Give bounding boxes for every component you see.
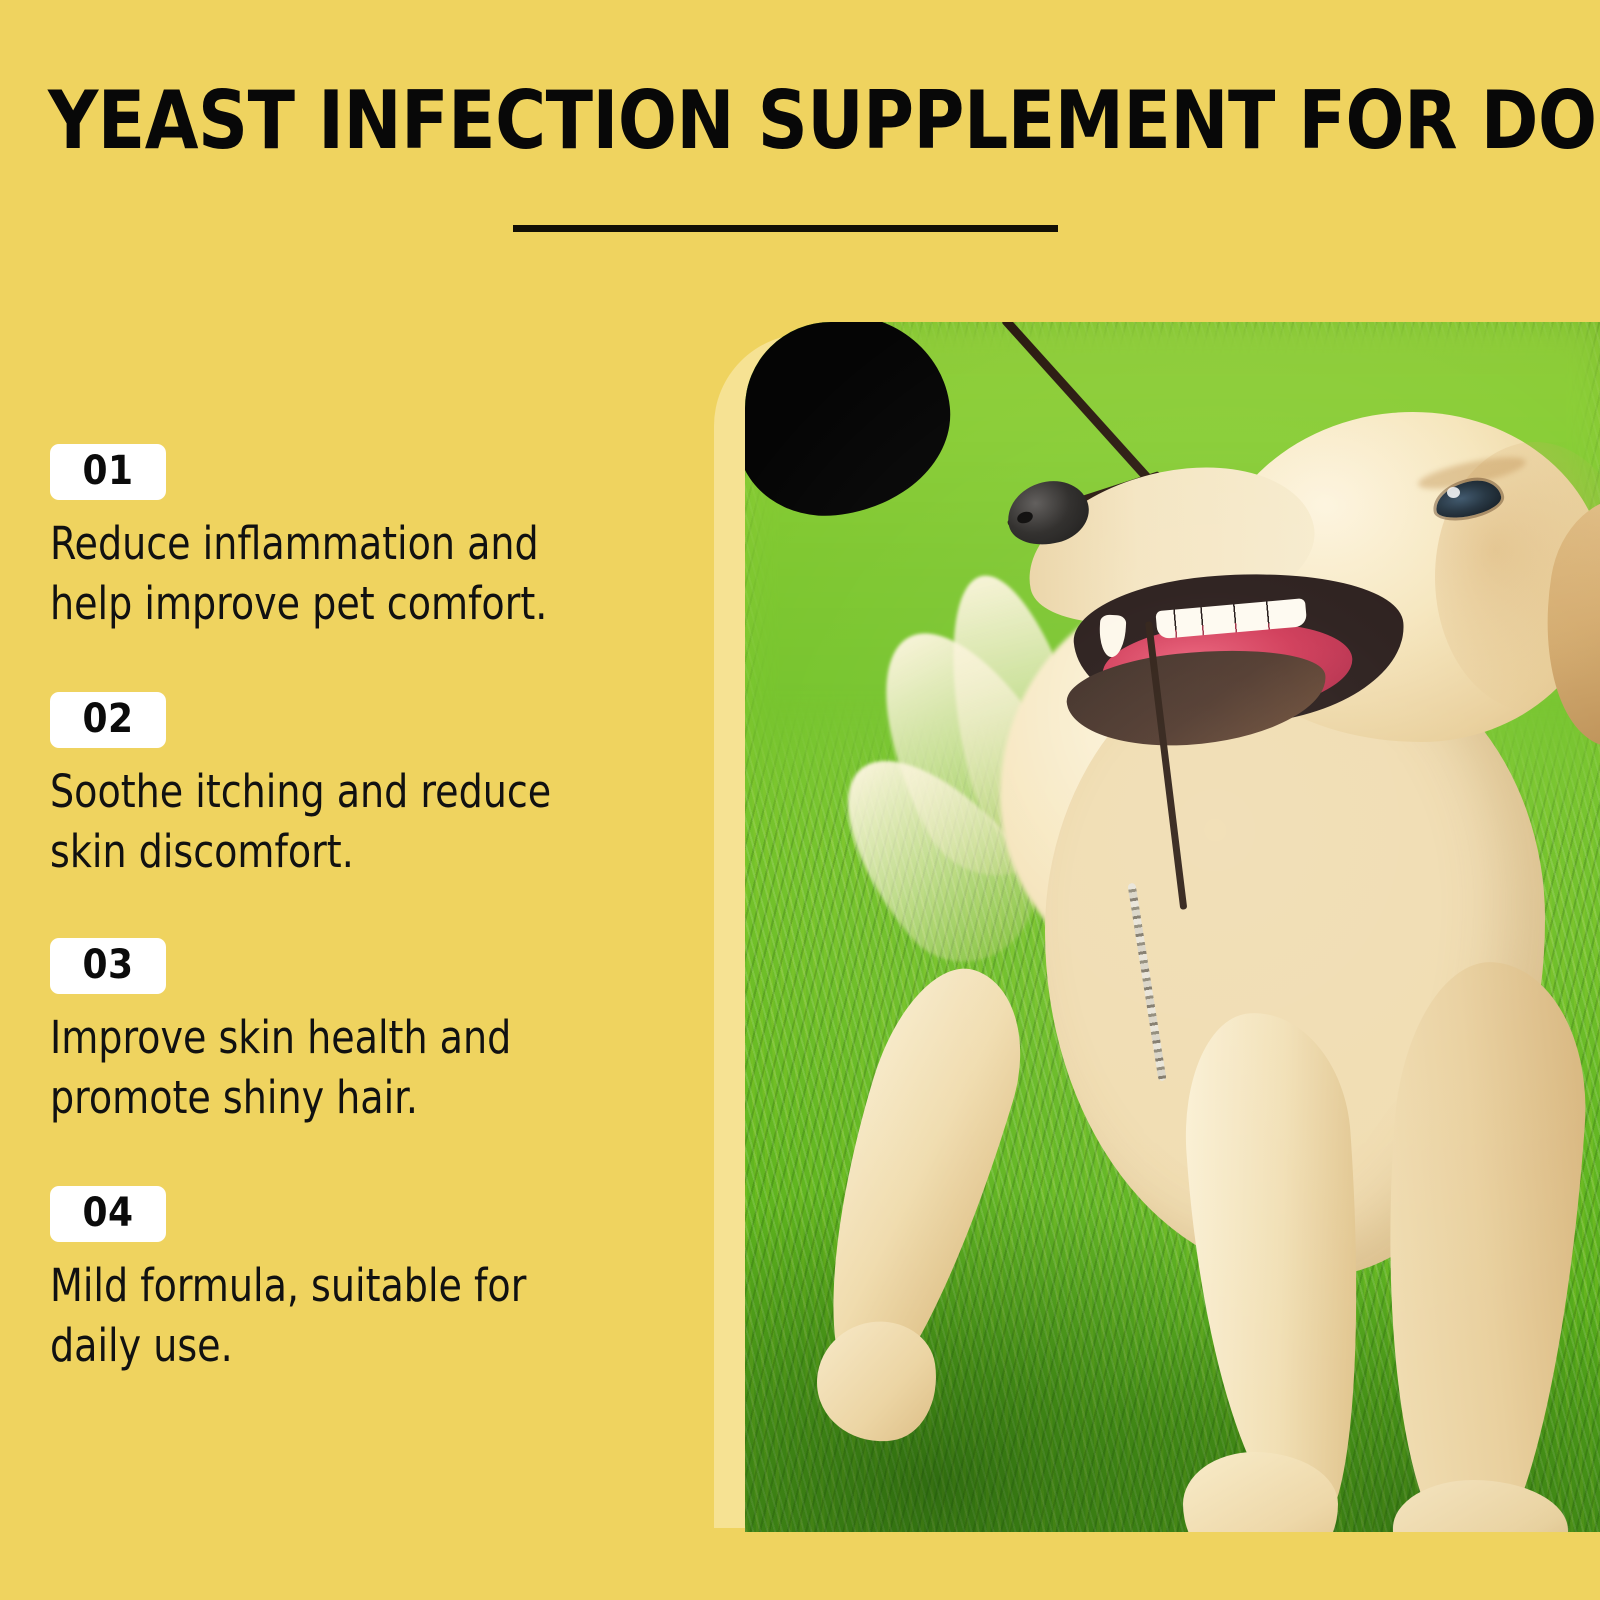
feature-number-badge: 02: [50, 692, 166, 748]
feature-description: Reduce inflammation and help improve pet…: [50, 514, 623, 634]
feature-item-02: 02 Soothe itching and reduce skin discom…: [50, 692, 670, 882]
product-feature-poster: YEAST INFECTION SUPPLEMENT FOR DOGS 01 R…: [0, 0, 1600, 1600]
dog-eye-highlight: [1447, 487, 1460, 498]
black-silhouette-shape: [745, 322, 960, 525]
feature-description: Soothe itching and reduce skin discomfor…: [50, 762, 623, 882]
feature-item-01: 01 Reduce inflammation and help improve …: [50, 444, 670, 634]
feature-item-04: 04 Mild formula, suitable for daily use.: [50, 1186, 670, 1376]
feature-description: Mild formula, suitable for daily use.: [50, 1256, 623, 1376]
feature-list: 01 Reduce inflammation and help improve …: [0, 0, 700, 1600]
feature-number-badge: 03: [50, 938, 166, 994]
dog-photo: [745, 322, 1600, 1532]
feature-item-03: 03 Improve skin health and promote shiny…: [50, 938, 670, 1128]
dog-front-left-paw: [809, 1314, 945, 1450]
feature-number-badge: 01: [50, 444, 166, 500]
dog-illustration: [745, 322, 1600, 1532]
feature-description: Improve skin health and promote shiny ha…: [50, 1008, 623, 1128]
feature-number-badge: 04: [50, 1186, 166, 1242]
